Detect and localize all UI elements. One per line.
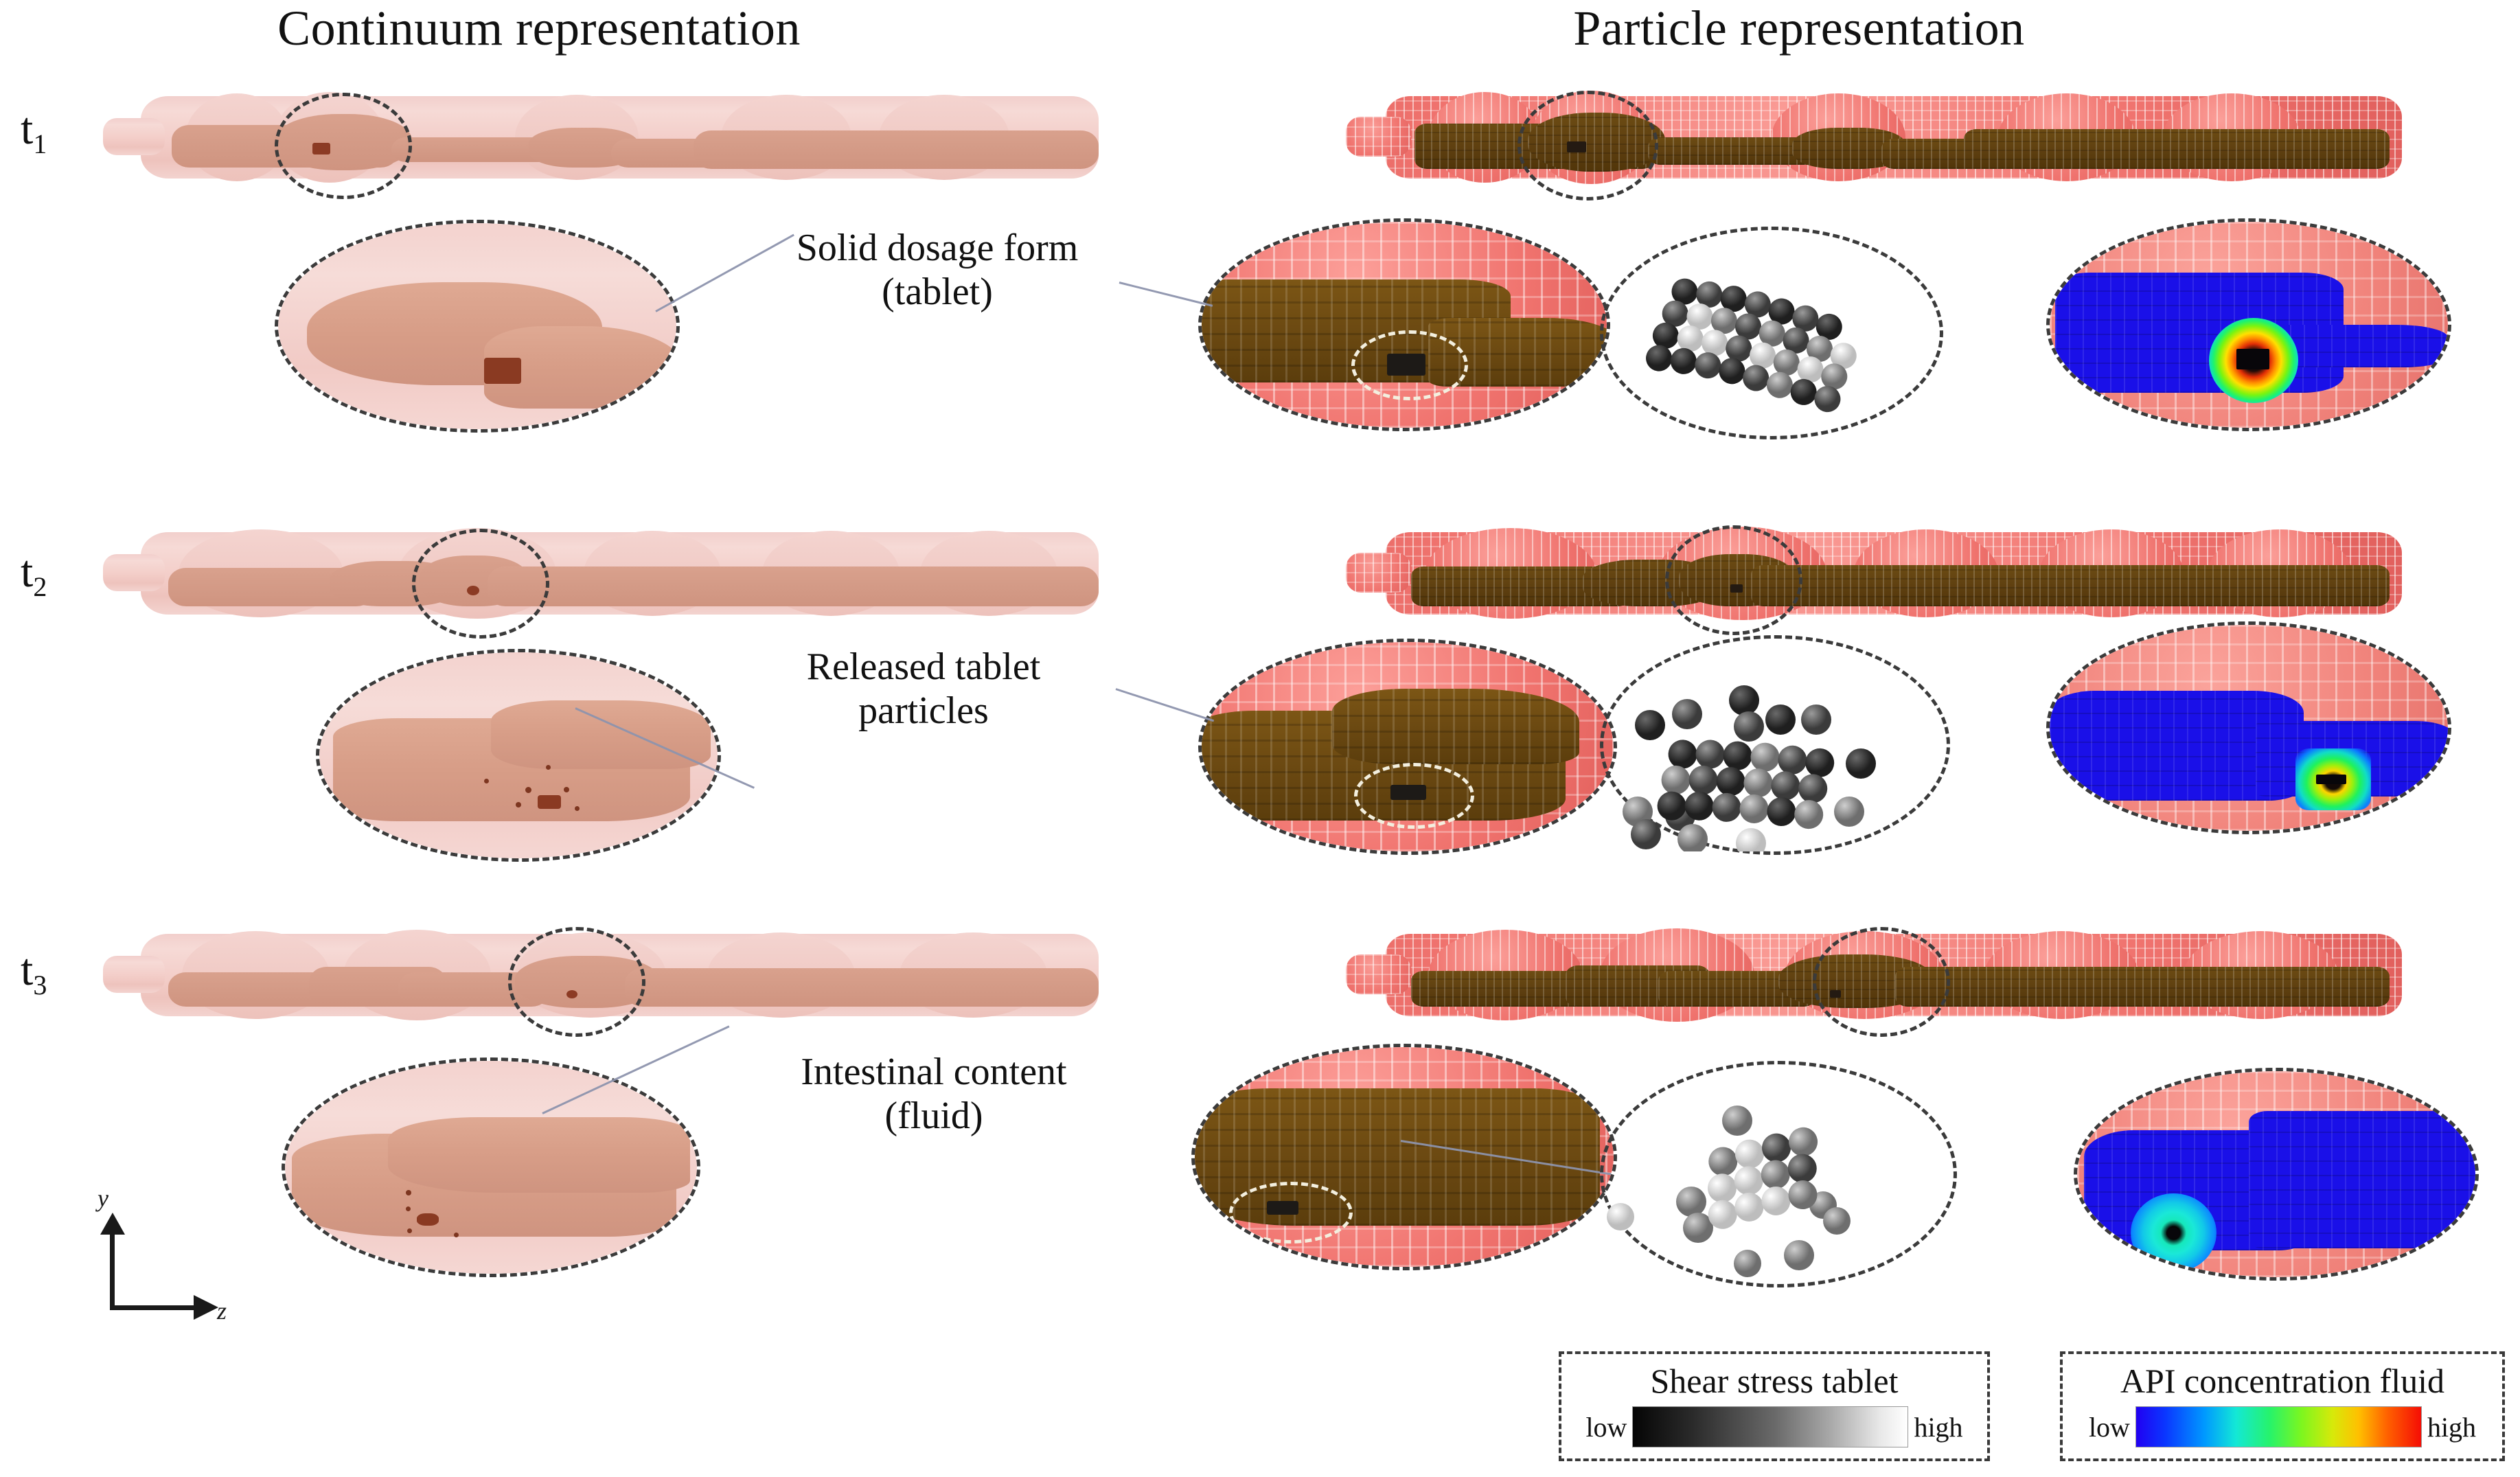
detail-clip (278, 223, 676, 429)
figure-canvas: Continuum representation Particle repres… (0, 0, 2520, 1477)
released-particle-dot (525, 787, 531, 793)
particle-tube-t1 (1346, 96, 2403, 179)
detail-view-particle-t3 (1191, 1044, 1617, 1270)
released-particle-dot (407, 1228, 412, 1233)
released-particle-dot (454, 1233, 459, 1237)
time-label-t1-base: t (21, 104, 33, 154)
fluid-particles (1751, 565, 2390, 606)
released-particle-dot (516, 802, 521, 808)
detail-clip (2077, 1071, 2475, 1277)
detail-clip (1202, 642, 1614, 851)
annotation-solid-dosage-form: Solid dosage form (tablet) (776, 227, 1099, 314)
detail-view-particle-t2 (1198, 639, 1617, 855)
fluid-api-low (2276, 325, 2448, 367)
legend-api-concentration-fluid: API concentration fluid low high (2060, 1351, 2505, 1461)
y-axis-arrow-icon (100, 1213, 125, 1236)
y-axis-line (110, 1229, 115, 1310)
zoom-indicator-ellipse-particle-t1 (1517, 91, 1658, 201)
fluid-particles (1895, 967, 2390, 1007)
time-label-t1: t1 (21, 103, 47, 160)
released-particles-cluster (417, 1213, 439, 1226)
detail-clip (319, 652, 718, 858)
leader-line-solid-dosage-form (655, 234, 794, 312)
zoom-indicator-ellipse-particle-t3 (1813, 927, 1950, 1037)
detail-view-continuum-t3 (282, 1057, 700, 1277)
time-label-t3-sub: 3 (33, 970, 47, 1000)
legend-shear-stress-tablet: Shear stress tablet low high (1559, 1351, 1990, 1461)
detail-clip (285, 1061, 697, 1274)
detail-clip (1202, 222, 1607, 428)
released-particle-dot (406, 1206, 411, 1211)
legend-high-label-api-concentration: high (2427, 1411, 2476, 1443)
legend-scale-row-shear-stress: low high (1561, 1406, 1987, 1447)
leader-line-particle-detail-t1 (1119, 282, 1213, 307)
lumen-wall-inlet (103, 554, 165, 591)
api-concentration-view-t1 (2046, 218, 2451, 431)
detail-view-particle-t1 (1198, 218, 1610, 431)
api-concentration-view-t2 (2046, 621, 2451, 834)
time-label-t2: t2 (21, 546, 47, 603)
y-axis-label: y (98, 1184, 108, 1213)
leader-line-particle-detail-t2 (1116, 688, 1215, 722)
wall-particles-inlet (1346, 954, 1411, 994)
detail-view-continuum-t2 (316, 649, 721, 862)
tablet-api (2166, 1228, 2180, 1239)
tablet-detail (484, 358, 521, 384)
tablet-closeup-t1 (1600, 227, 1943, 439)
zoom-indicator-ellipse-particle-t2 (1665, 525, 1802, 635)
tablet-particle-cluster-icon (1603, 230, 1940, 436)
zoom-indicator-ellipse-continuum-t2 (412, 529, 549, 639)
released-particle-dot (484, 779, 489, 783)
released-particle-dot (564, 787, 569, 792)
tablet-closeup-t3 (1600, 1061, 1957, 1287)
z-axis-arrow-icon (194, 1295, 218, 1320)
legend-low-label-api-concentration: low (2089, 1411, 2130, 1443)
fluid-api-low (2249, 1111, 2475, 1248)
released-particles-cluster (538, 795, 561, 809)
fluid-region (625, 968, 1099, 1007)
released-particle-dot (406, 1190, 411, 1195)
continuum-tube-t1 (103, 96, 1099, 179)
legend-title-shear-stress: Shear stress tablet (1561, 1354, 1987, 1398)
api-concentration-view-t3 (2074, 1068, 2479, 1281)
tablet-api (2236, 349, 2269, 369)
z-axis-label: z (217, 1296, 227, 1325)
tablet-api (2316, 775, 2346, 784)
fluid-region-detail (491, 700, 711, 769)
released-particle-dot (546, 765, 551, 770)
legend-high-label-shear-stress: high (1914, 1411, 1962, 1443)
detail-clip (2050, 222, 2448, 428)
zoom-indicator-ellipse-continuum-t3 (508, 927, 645, 1037)
zoom-indicator-ellipse-continuum-t1 (275, 93, 412, 199)
detail-clip (1195, 1047, 1614, 1267)
fluid-region (694, 130, 1099, 169)
fluid-region (488, 566, 1099, 606)
column-title-continuum: Continuum representation (244, 0, 834, 57)
annotation-intestinal-content: Intestinal content (fluid) (755, 1051, 1112, 1138)
tablet-detail-particles (1387, 354, 1425, 376)
colorbar-grayscale (1632, 1406, 1908, 1447)
lumen-wall-inlet (103, 956, 165, 993)
legend-title-api-concentration: API concentration fluid (2063, 1354, 2502, 1398)
axis-indicator: y z (82, 1209, 233, 1332)
time-label-t2-base: t (21, 547, 33, 597)
time-label-t1-sub: 1 (33, 128, 47, 159)
fluid-region-detail (388, 1117, 690, 1193)
colorbar-jet (2135, 1406, 2422, 1447)
tablet-detail-particles (1390, 785, 1426, 800)
tablet-closeup-t2 (1600, 635, 1950, 855)
detail-view-continuum-t1 (275, 220, 680, 433)
time-label-t3: t3 (21, 944, 47, 1001)
detail-clip (2050, 625, 2448, 831)
continuum-tube-t2 (103, 532, 1099, 615)
time-label-t3-base: t (21, 945, 33, 995)
wall-particles-inlet (1346, 117, 1411, 157)
column-title-particle: Particle representation (1490, 0, 2108, 57)
released-particle-dot (575, 806, 580, 811)
tablet-detail-particles (1267, 1201, 1298, 1215)
wall-particles-inlet (1346, 553, 1411, 593)
particle-tube-t2 (1346, 532, 2403, 615)
lumen-wall-inlet (103, 118, 165, 155)
legend-scale-row-api-concentration: low high (2063, 1406, 2502, 1447)
tablet-particle-cluster-icon (1603, 639, 1947, 851)
fluid-particles-detail (1332, 689, 1579, 764)
fluid-particles (1964, 129, 2390, 169)
z-axis-line (110, 1305, 199, 1310)
tablet-particle-cluster-icon (1603, 1064, 1954, 1284)
legend-low-label-shear-stress: low (1585, 1411, 1627, 1443)
time-label-t2-sub: 2 (33, 571, 47, 602)
annotation-released-tablet-particles: Released tablet particles (762, 645, 1085, 733)
